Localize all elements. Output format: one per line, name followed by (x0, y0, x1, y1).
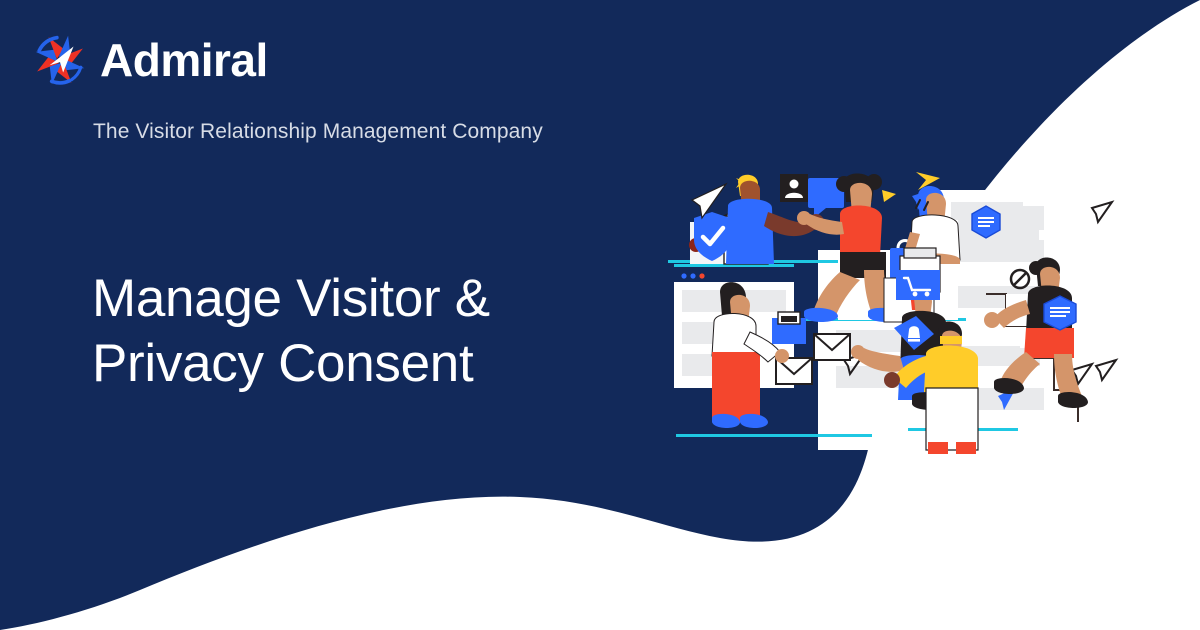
hero-banner: Admiral The Visitor Relationship Managem… (0, 0, 1200, 630)
placeholder-bar (958, 240, 1044, 262)
headline-line-2: Privacy Consent (92, 332, 490, 397)
shopping-cart-icon (896, 248, 940, 300)
user-profile-icon (780, 174, 808, 202)
admiral-wordmark: Admiral (100, 37, 268, 83)
envelope-icon (814, 334, 850, 360)
brand-tagline: The Visitor Relationship Management Comp… (93, 120, 543, 144)
privacy-badge-icon (1044, 296, 1076, 330)
headline-line-1: Manage Visitor & (92, 267, 490, 332)
page-title: Manage Visitor & Privacy Consent (92, 267, 490, 396)
admiral-pinwheel-compass-icon (34, 34, 86, 86)
privacy-badge-icon (972, 206, 1000, 238)
brand-lockup: Admiral (34, 34, 268, 86)
hero-illustration (668, 160, 1130, 460)
accent-line (676, 434, 872, 437)
paper-plane-icon (692, 184, 726, 218)
sparkle-icon (882, 190, 896, 202)
placeholder-bar (958, 206, 1044, 230)
